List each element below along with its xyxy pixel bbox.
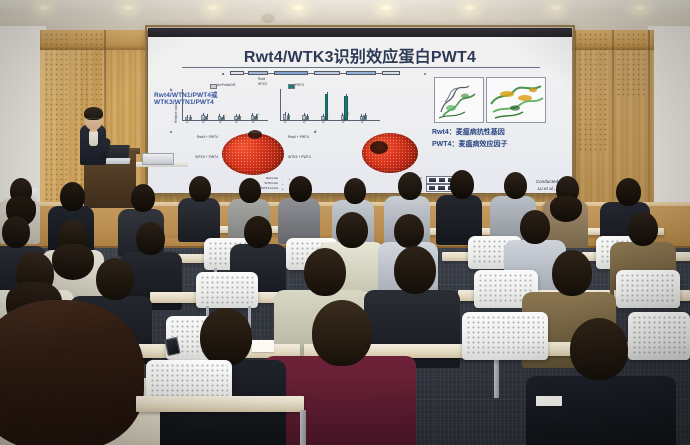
bar-chart-right: Pm3aPm3fRwt4+PWTK3+PPwt4: [280, 89, 380, 121]
panel-letter-c: c: [170, 129, 172, 134]
ceiling-sensor-icon: [262, 14, 274, 21]
blot-label-left-top: Rwt4 + PWT4: [192, 135, 218, 139]
ceiling-strip: [0, 0, 690, 10]
chart-error-bar: [304, 113, 305, 116]
panel-letter-e: e: [424, 71, 426, 76]
ceiling-downlight: [120, 3, 136, 12]
wood-panel-seam: [612, 30, 614, 230]
chair: [196, 272, 258, 308]
wood-panel-seam: [648, 30, 650, 230]
chart-error-bar: [285, 112, 286, 115]
leaf-lesion-left: [248, 130, 262, 139]
chart-error-bar: [187, 115, 188, 118]
chart-error-bar: [342, 113, 343, 116]
slide-annotation-right-2: PWT4：麦瘟病效应因子: [432, 139, 507, 149]
slide-annotation-left-2: WTK3/WTN1/PWT4: [154, 99, 214, 106]
panel-letter-a: a: [222, 71, 224, 76]
screen-top-bar: [148, 28, 572, 37]
acoustic-perforated-panel: [616, 32, 646, 98]
ceiling-downlight: [36, 3, 52, 12]
protein-structure-panel-2: [486, 77, 546, 123]
desk-leg: [494, 354, 499, 398]
construct-label-rwt4: Rwt4: [258, 77, 265, 81]
slide-annotation-right-1: Rwt4：麦瘟病抗性基因: [432, 127, 505, 137]
acoustic-perforated-panel: [578, 32, 608, 152]
chart-error-bar: [365, 113, 366, 116]
ceiling-downlight: [205, 3, 221, 12]
paper-handout: [252, 340, 274, 352]
chair: [462, 312, 548, 360]
slide-title-underline: [182, 67, 540, 68]
lecture-hall-screenshot: Rwt4/WTK3识别效应蛋白PWT4 a Rwt4 WTK3 b Relati…: [0, 0, 690, 445]
speaker-glasses: [87, 118, 100, 122]
projection-screen: Rwt4/WTK3识别效应蛋白PWT4 a Rwt4 WTK3 b Relati…: [148, 28, 572, 193]
legend-label-avrpm3: AvrPm3a2/f2: [217, 83, 235, 87]
ceiling-downlight: [378, 3, 394, 12]
panel-letter-d: d: [314, 129, 316, 134]
blot-label-right-bottom: WTK3 + PWT4: [288, 155, 311, 159]
desk: [136, 396, 304, 412]
water-bottle: [32, 188, 37, 201]
desk-leg: [300, 410, 306, 445]
protein-complex-ribbon-icon: [487, 78, 545, 122]
leaf-assay-image-right: [362, 133, 418, 173]
leaf-lesion-right: [370, 141, 388, 154]
legend-label-pwt4: PWT4: [295, 83, 304, 87]
wall-right-plaster: [648, 26, 690, 226]
ceiling-downlight: [632, 3, 648, 12]
chair: [628, 312, 690, 360]
gene-construct-diagram: [230, 71, 400, 75]
slide-title: Rwt4/WTK3识别效应蛋白PWT4: [148, 43, 572, 67]
protein-structure-panel-1: [434, 77, 484, 123]
chart-error-bar: [327, 92, 328, 95]
blot-label-left-bottom: WTK3 + PWT4: [192, 155, 218, 159]
blot-label-right-top: Rwt4 + PWT4: [288, 135, 309, 139]
chart-error-bar: [252, 113, 253, 116]
legend-swatch-pwt4: [288, 84, 295, 89]
speaker-shirt: [89, 130, 98, 146]
av-console: [142, 153, 174, 165]
protein-ribbon-icon: [435, 78, 483, 122]
chair: [616, 270, 680, 308]
chart-error-bar: [346, 94, 347, 97]
chart-tick-label: EV: [185, 119, 191, 125]
chart-error-bar: [219, 114, 220, 117]
leaf-assay-image-left: [222, 133, 284, 175]
ceiling-downlight: [548, 3, 564, 12]
chart-error-bar: [190, 115, 191, 118]
presentation-slide: Rwt4/WTK3识别效应蛋白PWT4 a Rwt4 WTK3 b Relati…: [148, 37, 572, 193]
construct-label-wtk3: WTK3: [258, 82, 267, 86]
ceiling-downlight: [290, 3, 306, 12]
acoustic-perforated-panel: [44, 32, 70, 208]
ceiling-downlight: [462, 3, 478, 12]
paper-handout: [536, 396, 562, 406]
slide-annotation-left-1: Rwt4/WTN1/PWT4或: [154, 89, 218, 99]
